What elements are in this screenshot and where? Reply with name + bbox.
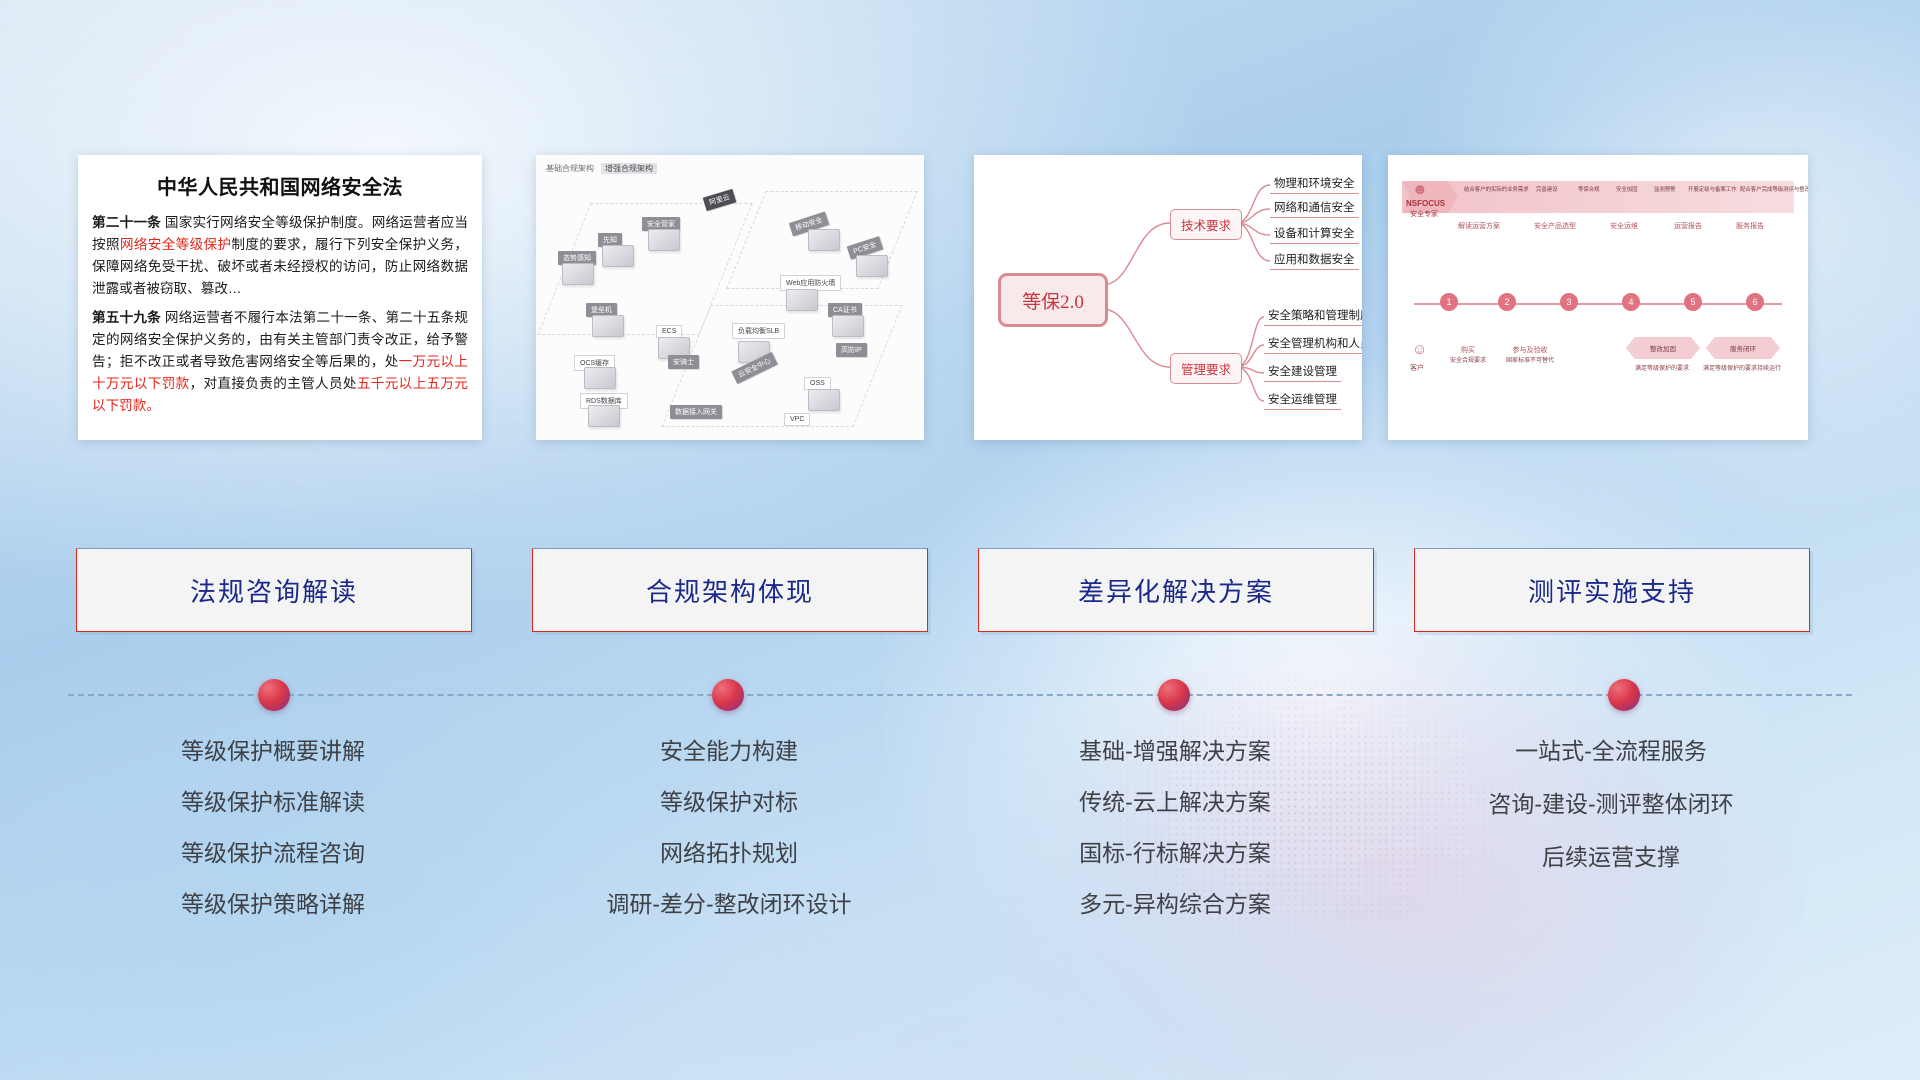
timeline-dot-2[interactable] [712, 679, 744, 711]
list-item: 等级保护策略详解 [76, 893, 470, 916]
detail-list-column-3: 基础-增强解决方案 传统-云上解决方案 国标-行标解决方案 多元-异构综合方案 [978, 740, 1372, 944]
detail-list-column-1: 等级保护概要讲解 等级保护标准解读 等级保护流程咨询 等级保护策略详解 [76, 740, 470, 944]
timeline-dot-4[interactable] [1608, 679, 1640, 711]
detail-list-column-4: 一站式-全流程服务 咨询-建设-测评整体闭环 后续运营支撑 [1414, 740, 1808, 899]
list-item: 基础-增强解决方案 [978, 740, 1372, 763]
list-item: 后续运营支撑 [1414, 846, 1808, 869]
timeline-dashed-line [68, 694, 1852, 698]
timeline-dot-3[interactable] [1158, 679, 1190, 711]
timeline-dot-1[interactable] [258, 679, 290, 711]
label-text-1: 合规架构体现 [646, 572, 814, 609]
list-item: 等级保护标准解读 [76, 791, 470, 814]
list-item: 咨询-建设-测评整体闭环 [1414, 793, 1808, 816]
list-item: 等级保护概要讲解 [76, 740, 470, 763]
list-item: 国标-行标解决方案 [978, 842, 1372, 865]
list-item: 等级保护对标 [532, 791, 926, 814]
detail-list-column-2: 安全能力构建 等级保护对标 网络拓扑规划 调研-差分-整改闭环设计 [532, 740, 926, 944]
label-box-assessment-support[interactable]: 测评实施支持 [1414, 548, 1810, 632]
list-item: 多元-异构综合方案 [978, 893, 1372, 916]
list-item: 调研-差分-整改闭环设计 [532, 893, 926, 916]
label-box-differentiated-solution[interactable]: 差异化解决方案 [978, 548, 1374, 632]
label-box-compliance-architecture[interactable]: 合规架构体现 [532, 548, 928, 632]
label-text-2: 差异化解决方案 [1078, 572, 1274, 609]
list-item: 一站式-全流程服务 [1414, 740, 1808, 763]
list-item: 等级保护流程咨询 [76, 842, 470, 865]
label-text-3: 测评实施支持 [1528, 572, 1696, 609]
label-box-regulation-consulting[interactable]: 法规咨询解读 [76, 548, 472, 632]
detail-list-row: 等级保护概要讲解 等级保护标准解读 等级保护流程咨询 等级保护策略详解 安全能力… [0, 740, 1920, 1040]
label-text-0: 法规咨询解读 [190, 572, 358, 609]
list-item: 安全能力构建 [532, 740, 926, 763]
list-item: 传统-云上解决方案 [978, 791, 1372, 814]
list-item: 网络拓扑规划 [532, 842, 926, 865]
